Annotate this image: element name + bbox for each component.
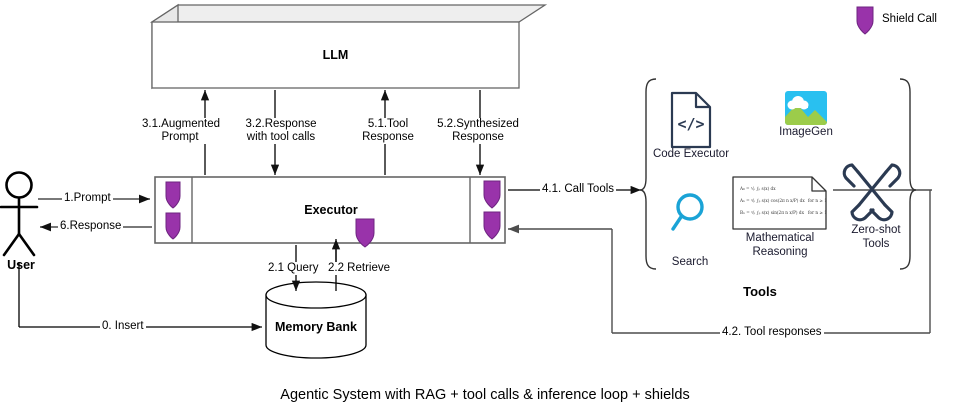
- svg-text:</>: </>: [677, 115, 704, 133]
- tool-label-imagegen: ImageGen: [766, 126, 846, 140]
- edge-label-prompt: 1.Prompt: [62, 192, 113, 205]
- figure-caption: Agentic System with RAG + tool calls & i…: [0, 387, 970, 403]
- svg-text:A₀ = ¹⁄ₚ ∫ₚ s(x) dx: A₀ = ¹⁄ₚ ∫ₚ s(x) dx: [739, 186, 776, 191]
- tool-label-math-reasoning: Mathematical Reasoning: [735, 232, 825, 259]
- tool-label-search: Search: [658, 256, 722, 270]
- edge-label-tool-response: 5.1.Tool Response: [348, 118, 428, 144]
- llm-box: [152, 5, 545, 88]
- svg-text:for n ≥ 1: for n ≥ 1: [808, 210, 827, 215]
- memory-bank-label: Memory Bank: [266, 320, 366, 334]
- user-label: User: [0, 258, 42, 272]
- code-document-icon: </>: [672, 93, 710, 147]
- svg-text:for n ≥ 1: for n ≥ 1: [808, 198, 827, 203]
- tools-group-label: Tools: [700, 284, 820, 299]
- user-stick-figure: [1, 173, 37, 256]
- tool-label-zero-shot-tools: Zero-shot Tools: [840, 224, 912, 251]
- llm-label: LLM: [152, 48, 519, 62]
- edge-label-retrieve: 2.2 Retrieve: [326, 262, 392, 275]
- edge-label-call-tools: 4.1. Call Tools: [540, 183, 616, 196]
- image-gen-icon: [785, 91, 827, 125]
- edge-label-insert: 0. Insert: [100, 320, 146, 333]
- executor-label: Executor: [192, 203, 470, 217]
- edge-label-query: 2.1 Query: [266, 262, 321, 275]
- diagram-canvas: </> A₀ = ¹⁄ₚ ∫ₚ s(x) dx Aₙ = ²⁄ₚ ∫ₚ s(x)…: [0, 0, 970, 411]
- edge-label-response-tool-calls: 3.2.Response with tool calls: [234, 118, 328, 144]
- svg-text:Bₙ = ²⁄ₚ ∫ₚ s(x) sin(2π n x/P): Bₙ = ²⁄ₚ ∫ₚ s(x) sin(2π n x/P) dx: [740, 210, 805, 215]
- edge-insert: [19, 262, 262, 327]
- tools-brace-left: [640, 79, 656, 269]
- edge-label-tool-responses: 4.2. Tool responses: [720, 326, 824, 339]
- edge-label-synthesized-response: 5.2.Synthesized Response: [430, 118, 526, 144]
- math-document-icon: A₀ = ¹⁄ₚ ∫ₚ s(x) dx Aₙ = ²⁄ₚ ∫ₚ s(x) cos…: [733, 177, 827, 229]
- search-magnifier-icon: [673, 195, 702, 229]
- edge-label-augmented-prompt: 3.1.Augmented Prompt: [140, 118, 220, 144]
- legend-shield-icon: [857, 7, 873, 34]
- crossed-wrenches-icon: [844, 165, 900, 220]
- tool-label-code-executor: Code Executor: [644, 148, 738, 162]
- svg-text:Aₙ = ²⁄ₚ ∫ₚ s(x) cos(2π n x/P): Aₙ = ²⁄ₚ ∫ₚ s(x) cos(2π n x/P) dx: [739, 198, 805, 203]
- edge-label-response: 6.Response: [58, 220, 123, 233]
- legend-shield-label: Shield Call: [882, 13, 937, 25]
